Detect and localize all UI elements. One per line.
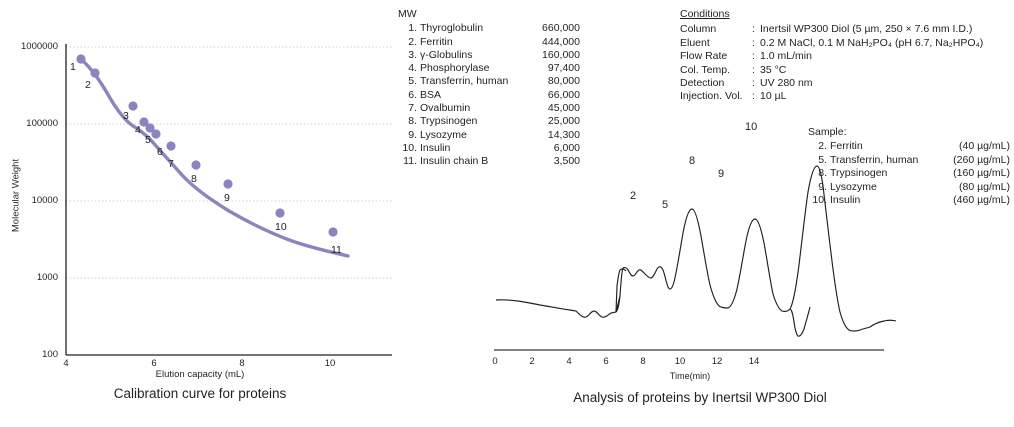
point-label-3: 3	[123, 110, 129, 122]
calibration-y-axis-title: Molecular Weight	[11, 136, 22, 256]
chromatogram-xtick-0: 0	[480, 356, 510, 367]
conditions-separator: :	[752, 50, 760, 63]
chromatogram-negative-dip	[790, 307, 810, 336]
calibration-data-points	[76, 54, 337, 236]
mw-name: Thyroglobulin	[420, 22, 528, 35]
xtick-10: 10	[310, 358, 350, 369]
mw-value: 66,000	[528, 89, 580, 102]
mw-row: 2. Ferritin 444,000	[398, 36, 580, 49]
conditions-separator: :	[752, 37, 760, 50]
calibration-caption: Calibration curve for proteins	[0, 386, 400, 401]
mw-index: 3.	[398, 49, 420, 62]
conditions-value: 1.0 mL/min	[760, 50, 812, 63]
point-label-11: 11	[331, 244, 342, 256]
conditions-row-detection: Detection : UV 280 nm	[680, 77, 983, 90]
chromatogram-xtick-12: 12	[702, 356, 732, 367]
chromatogram-xtick-14: 14	[739, 356, 769, 367]
chromatogram-x-axis-title: Time(min)	[630, 371, 750, 381]
mw-value: 444,000	[528, 36, 580, 49]
conditions-separator: :	[752, 77, 760, 90]
point-label-9: 9	[224, 192, 230, 204]
chromatogram-xtick-6: 6	[591, 356, 621, 367]
conditions-key: Col. Temp.	[680, 64, 752, 77]
mw-value: 80,000	[528, 75, 580, 88]
mw-value: 160,000	[528, 49, 580, 62]
mw-row: 4. Phosphorylase 97,400	[398, 62, 580, 75]
calibration-curve-line	[81, 59, 348, 256]
point-label-7: 7	[168, 158, 174, 170]
conditions-key: Column	[680, 23, 752, 36]
mw-index: 5.	[398, 75, 420, 88]
peak-label-8: 8	[689, 155, 695, 167]
chromatogram-panel: 2 5 8 9 10 0 2 4 6 8 10 12 14 Time(min) …	[480, 110, 1014, 410]
mw-index: 2.	[398, 36, 420, 49]
chromatogram-xtick-4: 4	[554, 356, 584, 367]
mw-list-header: MW	[398, 8, 580, 21]
conditions-separator: :	[752, 23, 760, 36]
chromatogram-xtick-10: 10	[665, 356, 695, 367]
mw-value: 660,000	[528, 22, 580, 35]
gridlines	[66, 47, 392, 278]
chromatogram-trace	[496, 166, 896, 331]
point-label-4: 4	[135, 124, 141, 136]
conditions-key: Eluent	[680, 37, 752, 50]
peak-label-5: 5	[662, 199, 668, 211]
calibration-chart-svg	[0, 0, 400, 400]
point-label-10: 10	[275, 221, 287, 233]
mw-name: γ-Globulins	[420, 49, 528, 62]
conditions-value: 0.2 M NaCl, 0.1 M NaH₂PO₄ (pH 6.7, Na₂HP…	[760, 37, 983, 50]
conditions-row-col-temp: Col. Temp. : 35 °C	[680, 64, 983, 77]
peak-label-2: 2	[630, 190, 636, 202]
xtick-6: 6	[134, 358, 174, 369]
mw-row: 5. Transferrin, human 80,000	[398, 75, 580, 88]
conditions-row-flow-rate: Flow Rate : 1.0 mL/min	[680, 50, 983, 63]
point-label-6: 6	[157, 146, 163, 158]
mw-index: 11.	[398, 155, 420, 168]
conditions-value: UV 280 nm	[760, 77, 813, 90]
mw-index: 1.	[398, 22, 420, 35]
conditions-value: Inertsil WP300 Diol (5 µm, 250 × 7.6 mm …	[760, 23, 972, 36]
mw-name: BSA	[420, 89, 528, 102]
mw-name: Phosphorylase	[420, 62, 528, 75]
ytick-1000000: 1000000	[0, 41, 58, 52]
chromatogram-svg	[480, 110, 920, 385]
calibration-x-axis-title: Elution capacity (mL)	[0, 369, 400, 380]
xtick-4: 4	[46, 358, 86, 369]
mw-index: 8.	[398, 115, 420, 128]
conditions-separator: :	[752, 90, 760, 103]
peak-label-10: 10	[745, 121, 757, 133]
mw-name: Transferrin, human	[420, 75, 528, 88]
mw-index: 4.	[398, 62, 420, 75]
mw-row: 1. Thyroglobulin 660,000	[398, 22, 580, 35]
xtick-8: 8	[222, 358, 262, 369]
peak-label-9: 9	[718, 168, 724, 180]
mw-name: Ferritin	[420, 36, 528, 49]
conditions-key: Flow Rate	[680, 50, 752, 63]
point-label-5: 5	[145, 134, 151, 146]
point-label-1: 1	[70, 61, 76, 73]
mw-index: 7.	[398, 102, 420, 115]
chromatogram-xtick-8: 8	[628, 356, 658, 367]
ytick-100000: 100000	[0, 118, 58, 129]
mw-index: 6.	[398, 89, 420, 102]
conditions-separator: :	[752, 64, 760, 77]
conditions-row-column: Column : Inertsil WP300 Diol (5 µm, 250 …	[680, 23, 983, 36]
conditions-row-injection-vol: Injection. Vol. : 10 µL	[680, 90, 983, 103]
conditions-row-eluent: Eluent : 0.2 M NaCl, 0.1 M NaH₂PO₄ (pH 6…	[680, 37, 983, 50]
conditions-key: Injection. Vol.	[680, 90, 752, 103]
point-label-8: 8	[191, 173, 197, 185]
conditions-block: Conditions Column : Inertsil WP300 Diol …	[680, 8, 983, 104]
conditions-value: 10 µL	[760, 90, 787, 103]
mw-row: 6. BSA 66,000	[398, 89, 580, 102]
ytick-1000: 1000	[0, 272, 58, 283]
conditions-header: Conditions	[680, 8, 983, 21]
mw-value: 97,400	[528, 62, 580, 75]
ytick-10000: 10000	[0, 195, 58, 206]
conditions-value: 35 °C	[760, 64, 786, 77]
point-label-2: 2	[85, 79, 91, 91]
chromatogram-xtick-2: 2	[517, 356, 547, 367]
calibration-curve-panel: 1000000 100000 10000 1000 100 4 6 8 10 1…	[0, 0, 400, 427]
mw-index: 10.	[398, 142, 420, 155]
chromatogram-caption: Analysis of proteins by Inertsil WP300 D…	[470, 390, 930, 405]
mw-index: 9.	[398, 129, 420, 142]
conditions-key: Detection	[680, 77, 752, 90]
mw-row: 3. γ-Globulins 160,000	[398, 49, 580, 62]
